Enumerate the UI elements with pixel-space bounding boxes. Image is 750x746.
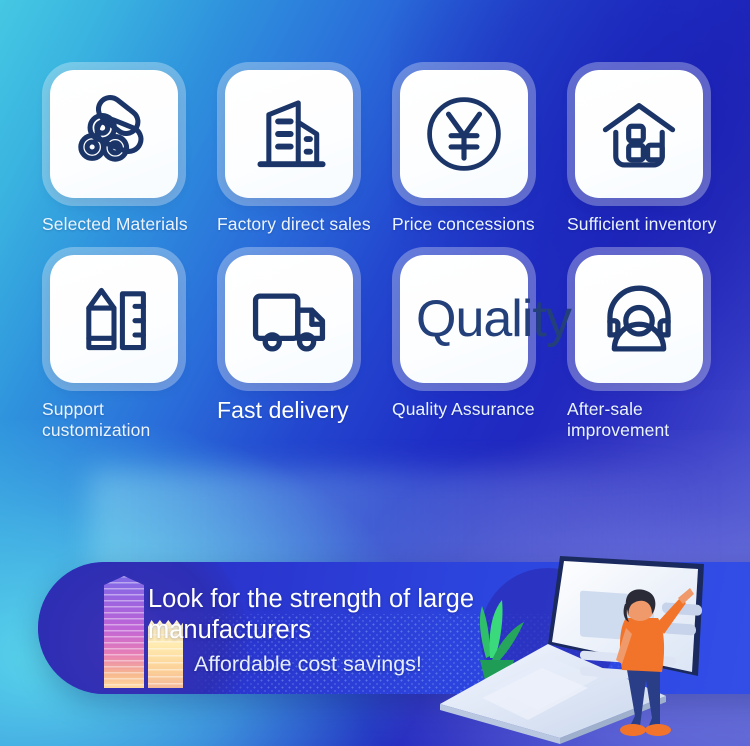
skyscraper-tall-icon bbox=[104, 576, 144, 688]
feature-item-fast-delivery[interactable]: Fast delivery bbox=[215, 255, 390, 441]
yen-coin-icon bbox=[421, 91, 507, 177]
feature-item-after-sale-improvement[interactable]: After-sale improvement bbox=[565, 255, 740, 441]
logs-stack-icon bbox=[72, 92, 156, 176]
feature-grid: Selected Materials F bbox=[0, 0, 750, 441]
feature-icon-card[interactable]: Quality bbox=[400, 255, 528, 383]
quality-text-icon: Quality bbox=[416, 289, 571, 349]
feature-item-quality-assurance[interactable]: Quality Quality Assurance bbox=[390, 255, 565, 441]
feature-item-support-customization[interactable]: Support customization bbox=[40, 255, 215, 441]
feature-icon-card[interactable] bbox=[225, 70, 353, 198]
feature-label: After-sale improvement bbox=[565, 399, 735, 441]
feature-item-sufficient-inventory[interactable]: Sufficient inventory bbox=[565, 70, 740, 235]
feature-label: Factory direct sales bbox=[215, 214, 385, 235]
feature-label: Selected Materials bbox=[40, 214, 210, 235]
feature-icon-card[interactable] bbox=[225, 255, 353, 383]
promo-banner-page: Selected Materials F bbox=[0, 0, 750, 746]
feature-icon-card[interactable] bbox=[50, 255, 178, 383]
feature-item-selected-materials[interactable]: Selected Materials bbox=[40, 70, 215, 235]
feature-label: Sufficient inventory bbox=[565, 214, 735, 235]
pencil-ruler-icon bbox=[72, 277, 156, 361]
feature-label: Quality Assurance bbox=[390, 399, 560, 420]
feature-icon-card[interactable] bbox=[575, 255, 703, 383]
feature-icon-card[interactable] bbox=[400, 70, 528, 198]
delivery-truck-icon bbox=[245, 275, 333, 363]
headset-support-icon bbox=[595, 275, 683, 363]
feature-item-factory-direct-sales[interactable]: Factory direct sales bbox=[215, 70, 390, 235]
feature-label: Price concessions bbox=[390, 214, 560, 235]
warehouse-home-icon bbox=[596, 91, 682, 177]
person-at-laptop-illustration bbox=[430, 548, 750, 746]
factory-building-icon bbox=[247, 92, 331, 176]
feature-icon-card[interactable] bbox=[50, 70, 178, 198]
feature-item-price-concessions[interactable]: Price concessions bbox=[390, 70, 565, 235]
feature-icon-card[interactable] bbox=[575, 70, 703, 198]
feature-label: Fast delivery bbox=[215, 397, 385, 423]
feature-label: Support customization bbox=[40, 399, 210, 441]
